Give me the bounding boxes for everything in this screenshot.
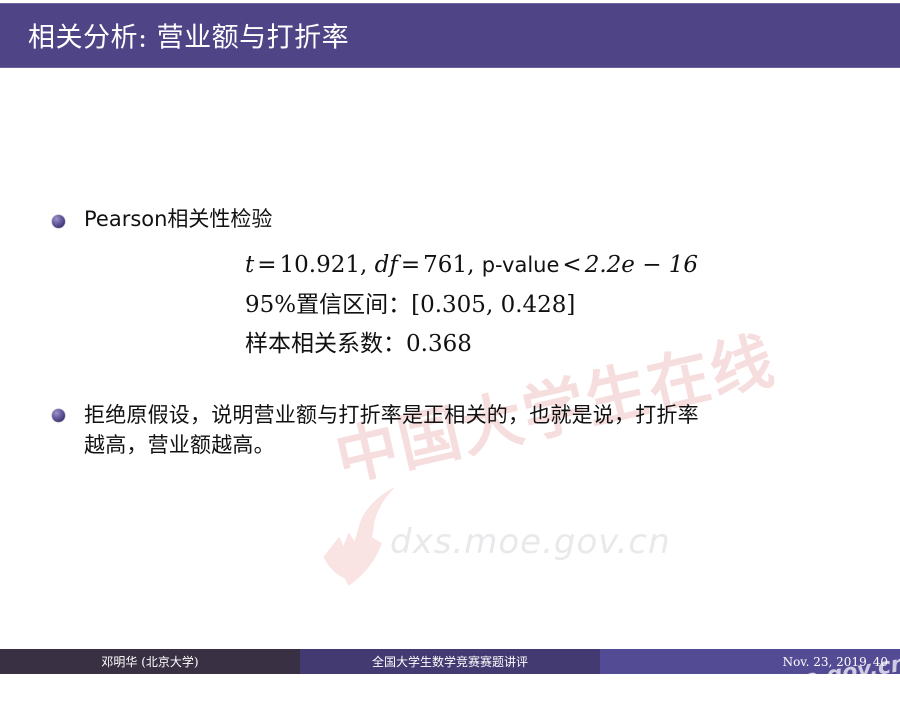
footer-presentation-title: 全国大学生数学竞赛赛题讲评	[300, 649, 600, 674]
math-symbol-df: df	[375, 252, 398, 278]
slide-footer: 邓明华 (北京大学) 全国大学生数学竞赛赛题讲评 Nov. 23, 2019 4…	[0, 649, 900, 674]
math-label-pvalue: p-value	[482, 253, 560, 277]
footer-date-page: Nov. 23, 2019 40 dxs.moe.gov.cn	[600, 649, 900, 674]
math-line-test-statistics: t=10.921, df=761, p-value<2.2e − 16	[245, 246, 698, 286]
math-equals-1: =	[254, 252, 279, 278]
bullet-dot-icon	[52, 215, 65, 228]
math-value-sample-correlation: 0.368	[406, 331, 472, 357]
bullet-row: Pearson相关性检验	[52, 206, 862, 234]
math-block: t=10.921, df=761, p-value<2.2e − 16 95%置…	[245, 246, 698, 365]
math-line-sample-correlation: 样本相关系数：0.368	[245, 325, 698, 365]
footer-author: 邓明华 (北京大学)	[0, 649, 300, 674]
math-label-sample-correlation: 样本相关系数：	[245, 331, 406, 357]
bullet-dot-icon	[52, 409, 65, 422]
bullet-label-pearson: Pearson相关性检验	[84, 207, 272, 231]
bullet-row: 拒绝原假设，说明营业额与打折率是正相关的，也就是说，打折率 越高，营业额越高。	[52, 400, 862, 461]
math-less-than: <	[559, 252, 584, 278]
footer-date-text: Nov. 23, 2019	[783, 655, 867, 669]
bullet-item-conclusion: 拒绝原假设，说明营业额与打折率是正相关的，也就是说，打折率 越高，营业额越高。	[52, 400, 862, 461]
math-value-confidence-interval: [0.305, 0.428]	[411, 292, 575, 318]
math-value-t: 10.921,	[280, 252, 368, 278]
footer-date-inner: Nov. 23, 2019 40	[783, 655, 888, 669]
page-title: 相关分析: 营业额与打折率	[28, 15, 349, 54]
math-value-df: 761,	[423, 252, 474, 278]
slide-title-banner: 相关分析: 营业额与打折率	[0, 3, 900, 68]
math-label-confidence-interval: 95%置信区间：	[245, 292, 411, 318]
slide-content: Pearson相关性检验 t=10.921, df=761, p-value<2…	[0, 68, 900, 646]
bullet-item-pearson: Pearson相关性检验	[52, 206, 862, 234]
math-value-pvalue: 2.2e − 16	[585, 252, 698, 278]
conclusion-line-1: 拒绝原假设，说明营业额与打折率是正相关的，也就是说，打折率	[84, 400, 862, 430]
footer-page-number: 40	[873, 655, 888, 669]
math-symbol-t: t	[245, 252, 254, 278]
slide-root: 相关分析: 营业额与打折率 中国大学生在线 dxs.moe.gov.cn Pea…	[0, 0, 900, 674]
math-line-confidence-interval: 95%置信区间：[0.305, 0.428]	[245, 286, 698, 326]
math-equals-2: =	[398, 252, 423, 278]
bullet-paragraph-conclusion: 拒绝原假设，说明营业额与打折率是正相关的，也就是说，打折率 越高，营业额越高。	[84, 400, 862, 461]
conclusion-line-2: 越高，营业额越高。	[84, 430, 862, 460]
